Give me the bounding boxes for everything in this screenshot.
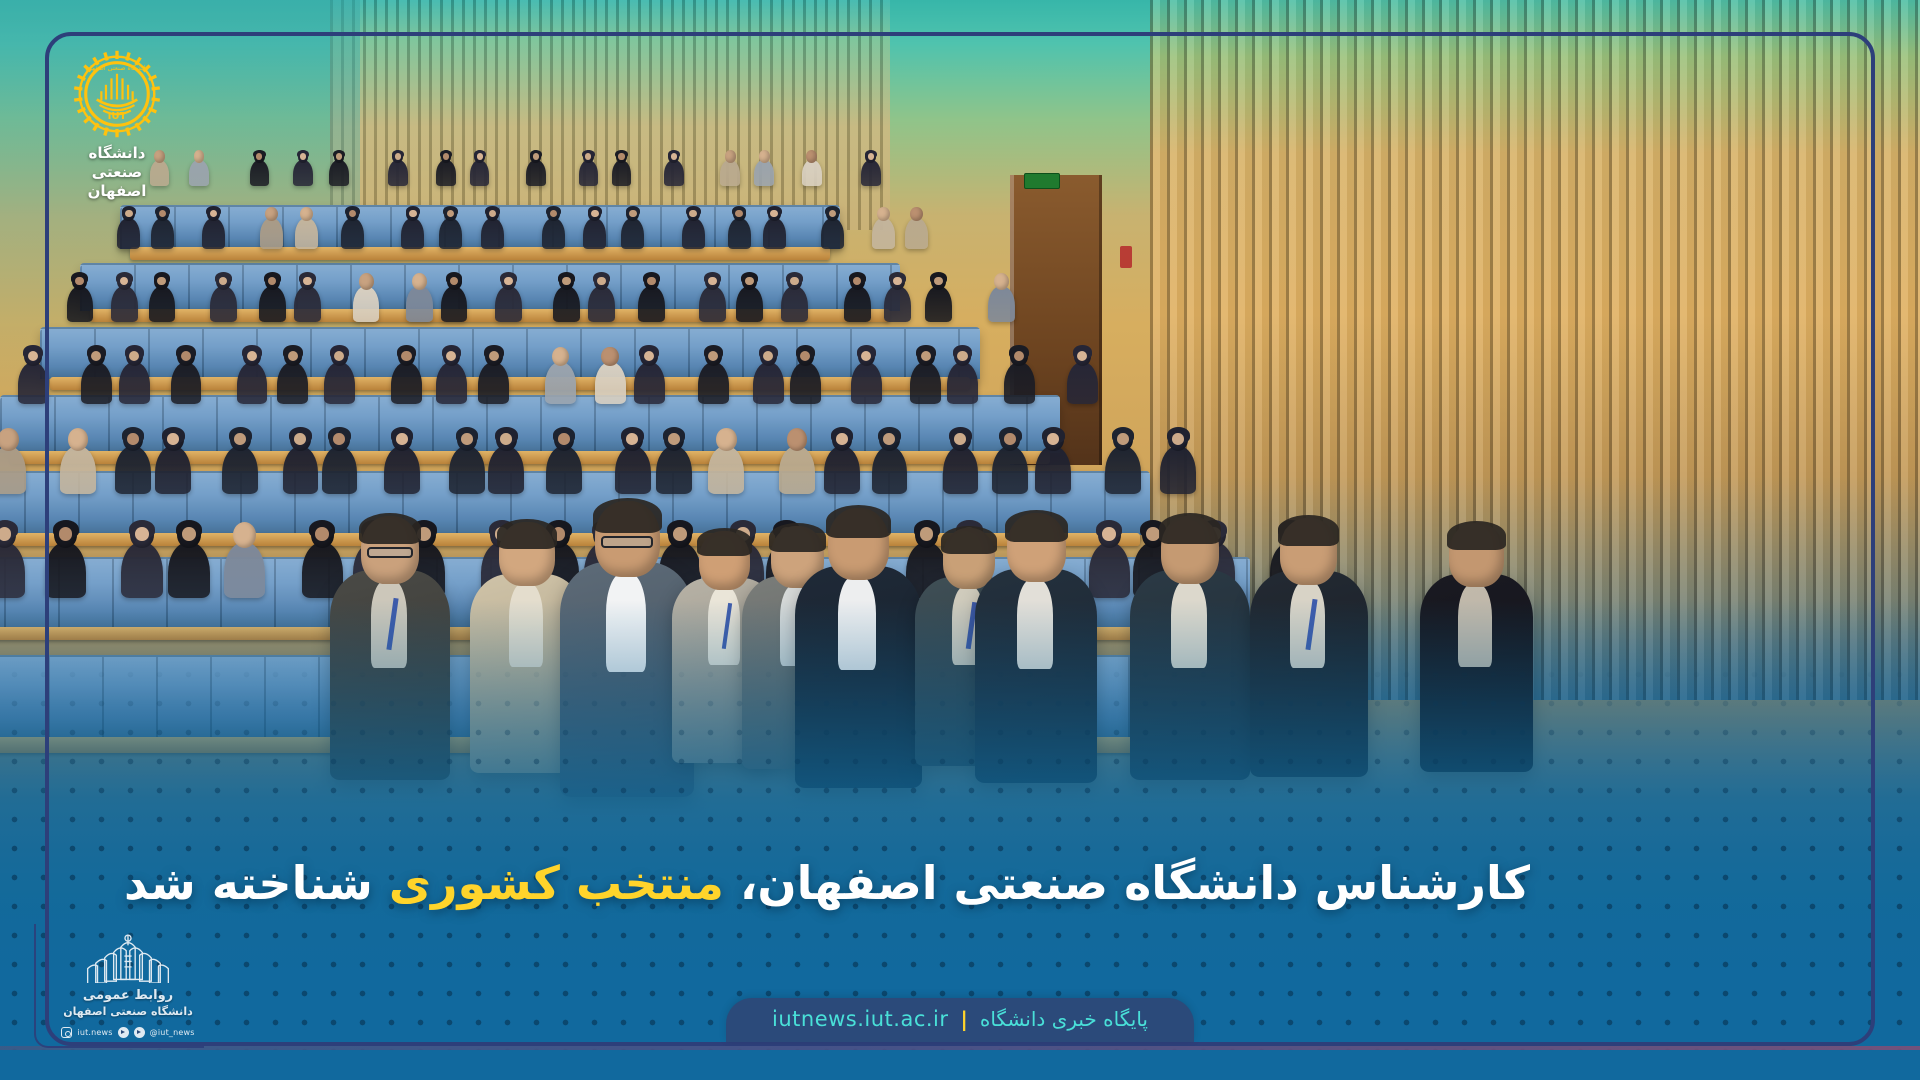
headline: کارشناس دانشگاه صنعتی اصفهان، منتخب کشور… [124, 856, 1530, 910]
bottom-strip [0, 1050, 1920, 1080]
headline-before: کارشناس دانشگاه صنعتی اصفهان، [724, 856, 1530, 910]
front-row-attendee-glasses [367, 547, 413, 558]
front-row-attendee-hair [359, 513, 421, 544]
news-banner: IUT دانشگاه صنعتی اصفهان دانشگاه صنعتی ا… [0, 0, 1920, 1080]
headline-after: شناخته شد [124, 856, 389, 910]
telegram-icon[interactable] [118, 1027, 129, 1038]
university-logo-line1: دانشگاه [52, 144, 182, 163]
front-row-attendee-hair [697, 528, 752, 556]
instagram-icon[interactable] [61, 1027, 72, 1038]
svg-text:دانشگاه صنعتی اصفهان: دانشگاه صنعتی اصفهان [85, 64, 148, 72]
front-row-attendee-hair [1159, 513, 1221, 544]
university-logo: IUT دانشگاه صنعتی اصفهان دانشگاه صنعتی ا… [52, 48, 182, 188]
footer-badge: پایگاه خبری دانشگاه | iutnews.iut.ac.ir [726, 998, 1194, 1042]
front-row-attendee-hair [593, 498, 662, 533]
university-logo-line2: صنعتی [52, 163, 182, 182]
footer-url[interactable]: iutnews.iut.ac.ir [772, 1007, 949, 1031]
university-logo-line3: اصفهان [52, 182, 182, 201]
iut-gear-emblem: IUT دانشگاه صنعتی اصفهان [71, 48, 163, 140]
front-row-attendee-hair [1005, 510, 1068, 542]
footer-separator: | [961, 1007, 968, 1031]
whatsapp-icon[interactable] [134, 1027, 145, 1038]
front-row-attendee-hair [1447, 521, 1506, 550]
front-row-attendee-hair [826, 505, 891, 538]
headline-highlight: منتخب کشوری [389, 856, 724, 910]
front-row-attendee-glasses [601, 536, 653, 548]
footer-label: پایگاه خبری دانشگاه [980, 1007, 1148, 1031]
front-row-attendee-hair [941, 526, 997, 554]
front-row-attendee-hair [1278, 515, 1339, 546]
front-row-attendee-hair [769, 523, 826, 552]
pr-logo: روابط عمومی دانشگاه صنعتی اصفهان iut.new… [48, 931, 208, 1038]
svg-text:IUT: IUT [108, 111, 127, 122]
front-row-attendee-hair [497, 519, 556, 549]
